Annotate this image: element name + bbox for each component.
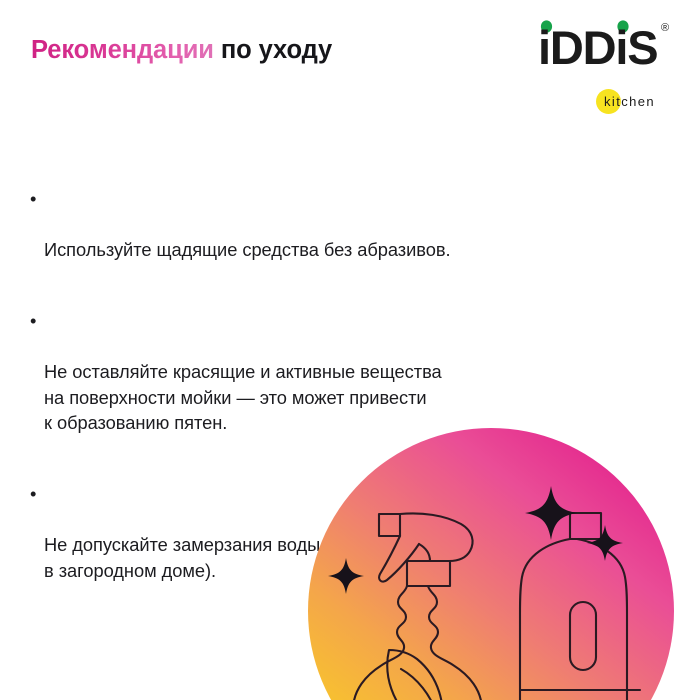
bullet-marker: • <box>30 481 44 507</box>
list-item-text: Не оставляйте красящие и активные вещест… <box>30 359 670 436</box>
care-instructions-card: Рекомендации по уходу iDDiS ® kitchen • … <box>0 0 700 700</box>
promo-graphic <box>308 428 674 700</box>
page-title: Рекомендации по уходу <box>31 38 332 64</box>
page-title-accent: Рекомендации <box>31 36 214 64</box>
sparkle-icon <box>328 558 364 594</box>
brand-sub-label: kitchen <box>604 93 655 111</box>
list-item: • Используйте щадящие средства без абраз… <box>30 186 670 288</box>
sparkle-icon <box>587 525 623 561</box>
list-item-text: Используйте щадящие средства без абразив… <box>30 237 670 263</box>
bullet-marker: • <box>30 308 44 334</box>
header: Рекомендации по уходу iDDiS ® kitchen <box>0 0 700 120</box>
logo-text: iDDiS <box>538 21 657 67</box>
spray-bottle-icon <box>353 513 482 700</box>
page-title-rest: по уходу <box>214 36 332 64</box>
brand-logo: iDDiS ® kitchen <box>538 19 678 104</box>
detergent-bottle-icon <box>513 513 645 700</box>
bullet-marker: • <box>30 186 44 212</box>
registered-trademark-icon: ® <box>661 22 669 34</box>
cleaning-products-illustration <box>308 428 674 700</box>
brand-sub-logo: kitchen <box>560 89 670 115</box>
brand-wordmark-icon: iDDiS ® <box>538 19 678 67</box>
